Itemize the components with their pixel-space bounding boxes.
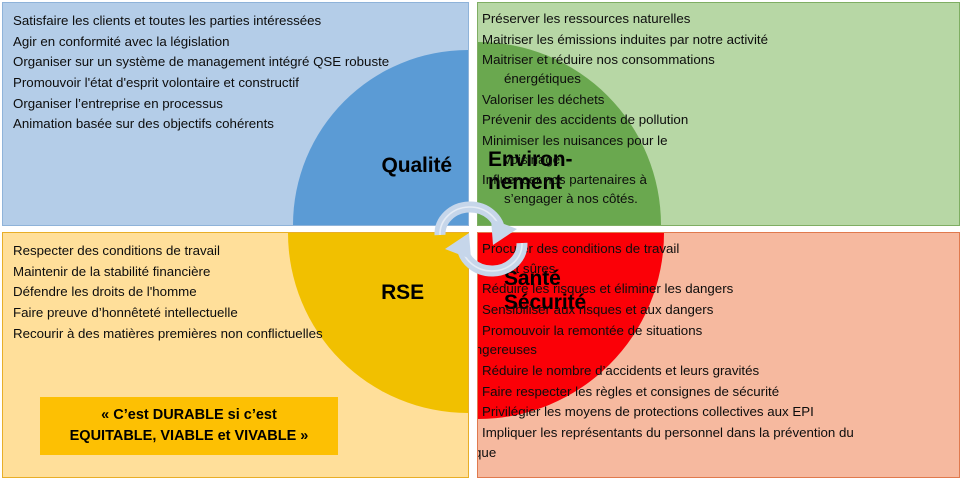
quadrant-environment: Environ- nement •Préserver les ressource…	[477, 2, 960, 226]
bullet-text: Organiser l’entreprise en processus	[13, 96, 223, 111]
bullet-text: Respecter des conditions de travail	[13, 243, 220, 258]
bullet-text-wrap: saines et sûres	[477, 259, 772, 279]
bullet-text: Procurer des conditions de travail	[482, 241, 679, 256]
bullet-text: Réduire les risques et éliminer les dang…	[482, 281, 733, 296]
list-item: •Prévenir des accidents de pollution	[482, 110, 782, 130]
list-item: •Agir en conformité avec la législation	[13, 32, 403, 52]
list-item: •Maitriser et réduire nos consommationsé…	[482, 50, 812, 88]
bullet-text: Défendre les droits de l'homme	[13, 284, 197, 299]
bullet-text: Faire respecter les règles et consignes …	[482, 384, 779, 399]
bullet-text-wrap: risque	[477, 443, 918, 463]
bullet-text: Impliquer les représentants du personnel…	[482, 425, 854, 440]
list-item: •Satisfaire les clients et toutes les pa…	[13, 11, 403, 31]
list-item: •Minimiser les nuisances pour levoisinag…	[482, 131, 732, 169]
list-item: •Préserver les ressources naturelles	[482, 9, 934, 29]
list-item: •Organiser l’entreprise en processus	[13, 94, 403, 114]
bullet-text: Privilégier les moyens de protections co…	[482, 404, 814, 419]
list-item: •Réduire les risques et éliminer les dan…	[482, 279, 794, 299]
list-item: •Sensibiliser aux risques et aux dangers	[482, 300, 788, 320]
rse-bullet-list: •Respecter des conditions de travail •Ma…	[13, 241, 403, 344]
list-item: •Valoriser les déchets	[482, 90, 772, 110]
bullet-text: Promouvoir l'état d'esprit volontaire et…	[13, 75, 299, 90]
list-item: •Maintenir de la stabilité financière	[13, 262, 403, 282]
bullet-text: Animation basée sur des objectifs cohére…	[13, 116, 274, 131]
bullet-text: Réduire le nombre d’accidents et leurs g…	[482, 363, 759, 378]
bullet-text: Valoriser les déchets	[482, 92, 604, 107]
callout-line2: EQUITABLE, VIABLE et VIVABLE »	[70, 426, 309, 447]
list-item: •Faire respecter les règles et consignes…	[482, 382, 844, 402]
environment-bullet-list: •Préserver les ressources naturelles •Ma…	[482, 9, 954, 210]
quadrant-quality: Qualité •Satisfaire les clients et toute…	[2, 2, 469, 226]
list-item: •Influencer nos partenaires às’engager à…	[482, 170, 732, 208]
list-item: •Privilégier les moyens de protections c…	[482, 402, 870, 422]
bullet-text-wrap: voisinage	[482, 150, 732, 170]
list-item: •Promouvoir la remontée de situationsdan…	[482, 321, 806, 360]
list-item: •Maitriser les émissions induites par no…	[482, 30, 882, 50]
bullet-text-wrap: dangereuses	[477, 340, 806, 360]
quality-bullet-list: •Satisfaire les clients et toutes les pa…	[13, 11, 403, 135]
list-item: •Procurer des conditions de travailsaine…	[482, 239, 772, 278]
bullet-text: Organiser sur un système de management i…	[13, 54, 389, 69]
list-item: •Organiser sur un système de management …	[13, 52, 403, 72]
bullet-text: Maitriser les émissions induites par not…	[482, 32, 768, 47]
quadrant-safety: Santé Sécurité •Procurer des conditions …	[477, 232, 960, 478]
bullet-text: Recourir à des matières premières non co…	[13, 326, 323, 341]
bullet-text: Sensibiliser aux risques et aux dangers	[482, 302, 713, 317]
qse-policy-diagram: Qualité •Satisfaire les clients et toute…	[0, 0, 962, 480]
list-item: •Réduire le nombre d’accidents et leurs …	[482, 361, 830, 381]
bullet-text-wrap: s’engager à nos côtés.	[482, 189, 732, 209]
list-item: •Défendre les droits de l'homme	[13, 282, 403, 302]
bullet-text: Satisfaire les clients et toutes les par…	[13, 13, 321, 28]
list-item: •Animation basée sur des objectifs cohér…	[13, 114, 403, 134]
bullet-text: Maitriser et réduire nos consommations	[482, 52, 715, 67]
bullet-text: Maintenir de la stabilité financière	[13, 264, 210, 279]
list-item: •Faire preuve d’honnêteté intellectuelle	[13, 303, 403, 323]
list-item: •Promouvoir l'état d'esprit volontaire e…	[13, 73, 403, 93]
durable-callout-box: « C’est DURABLE si c’est EQUITABLE, VIAB…	[40, 397, 338, 455]
list-item: •Respecter des conditions de travail	[13, 241, 403, 261]
bullet-text: Prévenir des accidents de pollution	[482, 112, 688, 127]
bullet-text: Influencer nos partenaires à	[482, 172, 647, 187]
bullet-text: Promouvoir la remontée de situations	[482, 323, 702, 338]
bullet-text-wrap: énergétiques	[482, 69, 812, 89]
list-item: •Recourir à des matières premières non c…	[13, 324, 403, 344]
safety-bullet-list: •Procurer des conditions de travailsaine…	[482, 239, 958, 463]
quality-title: Qualité	[382, 154, 452, 178]
bullet-text: Minimiser les nuisances pour le	[482, 133, 668, 148]
callout-line1: « C’est DURABLE si c’est	[101, 405, 277, 426]
bullet-text: Agir en conformité avec la législation	[13, 34, 230, 49]
bullet-text: Préserver les ressources naturelles	[482, 11, 690, 26]
list-item: •Impliquer les représentants du personne…	[482, 423, 918, 462]
bullet-text: Faire preuve d’honnêteté intellectuelle	[13, 305, 238, 320]
